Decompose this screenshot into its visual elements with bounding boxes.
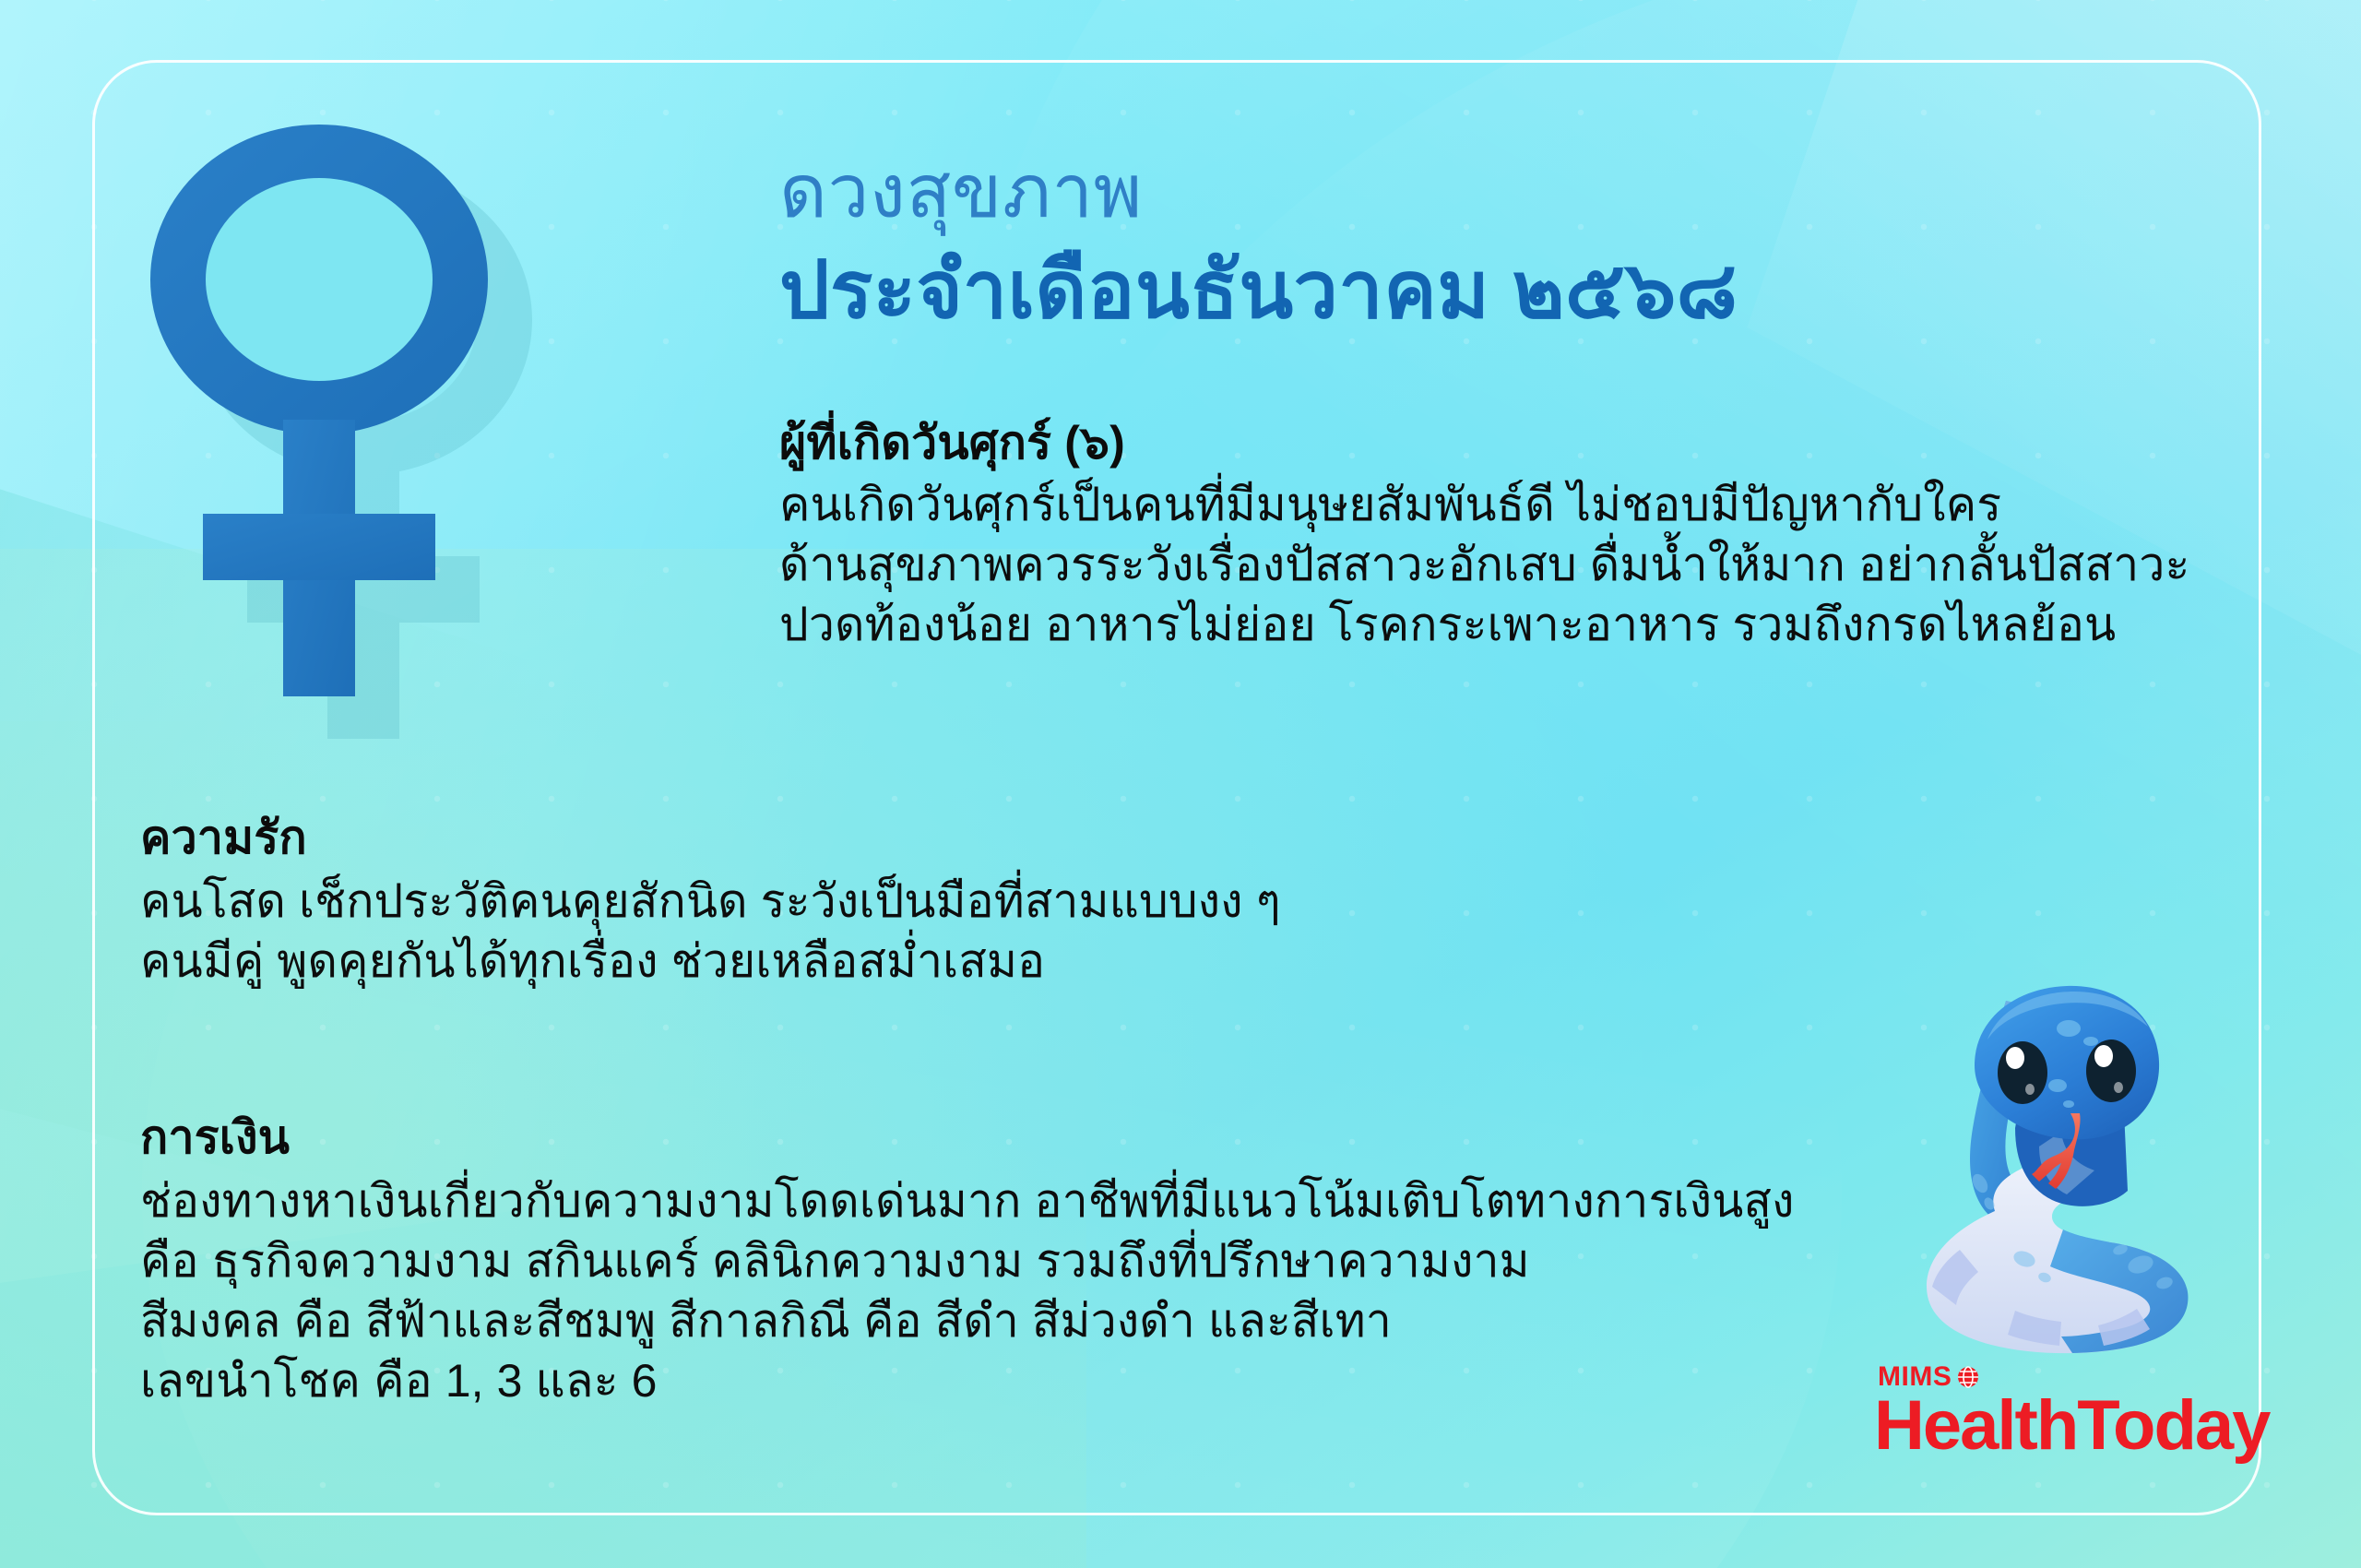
section-friday: ผู้ที่เกิดวันศุกร์ (๖) คนเกิดวันศุกร์เป็… — [779, 417, 2189, 655]
section-friday-line-3: ปวดท้องน้อย อาหารไม่ย่อย โรคกระเพาะอาหาร… — [779, 595, 2189, 655]
page-kicker: ดวงสุขภาพ — [779, 155, 1143, 229]
section-love: ความรัก คนโสด เช็กประวัติคนคุยสักนิด ระว… — [140, 812, 1281, 992]
logo-healthtoday-text: HealthToday — [1874, 1393, 2243, 1460]
snake-mascot-icon — [1877, 973, 2246, 1360]
section-money: การเงิน ช่องทางหาเงินเกี่ยวกับความงามโดด… — [140, 1111, 1795, 1411]
section-money-line-1: ช่องทางหาเงินเกี่ยวกับความงามโดดเด่นมาก … — [140, 1171, 1795, 1231]
section-friday-heading: ผู้ที่เกิดวันศุกร์ (๖) — [779, 417, 2189, 469]
section-money-line-3: สีมงคล คือ สีฟ้าและสีชมพู สีกาลกิณี คือ … — [140, 1291, 1795, 1351]
page-title: ประจำเดือนธันวาคม ๒๕๖๘ — [779, 251, 1738, 330]
section-money-line-4: เลขนำโชค คือ 1, 3 และ 6 — [140, 1351, 1795, 1411]
section-love-line-2: คนมีคู่ พูดคุยกันได้ทุกเรื่อง ช่วยเหลือส… — [140, 932, 1281, 992]
section-money-line-2: คือ ธุรกิจความงาม สกินแคร์ คลินิกความงาม… — [140, 1231, 1795, 1291]
section-love-line-1: คนโสด เช็กประวัติคนคุยสักนิด ระวังเป็นมื… — [140, 872, 1281, 932]
venus-symbol-icon — [138, 115, 572, 761]
brand-logo: MIMS HealthToday — [1874, 1363, 2243, 1465]
section-friday-line-1: คนเกิดวันศุกร์เป็นคนที่มีมนุษยสัมพันธ์ดี… — [779, 475, 2189, 535]
poster-canvas: ดวงสุขภาพ ประจำเดือนธันวาคม ๒๕๖๘ ผู้ที่เ… — [0, 0, 2361, 1568]
section-love-heading: ความรัก — [140, 812, 1281, 864]
section-money-heading: การเงิน — [140, 1111, 1795, 1164]
section-friday-line-2: ด้านสุขภาพควรระวังเรื่องปัสสาวะอักเสบ ดื… — [779, 535, 2189, 595]
